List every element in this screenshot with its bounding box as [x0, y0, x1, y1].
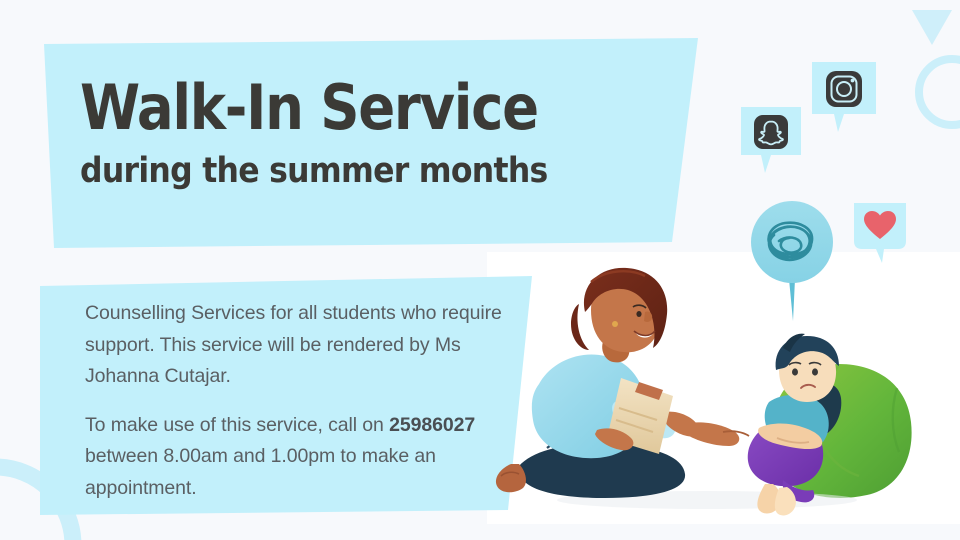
triangle-decoration: [912, 10, 952, 45]
poster-canvas: Walk-In Service during the summer months…: [0, 0, 960, 540]
circle-outline-decoration: [919, 59, 960, 125]
title-text-group: Walk-In Service during the summer months: [80, 76, 680, 190]
instagram-bubble[interactable]: [806, 58, 882, 136]
instagram-icon: [826, 71, 862, 107]
page-subtitle: during the summer months: [80, 153, 620, 190]
body-paragraph-description: Counselling Services for all students wh…: [85, 298, 505, 393]
snapchat-icon: [754, 115, 788, 149]
counsellor-figure: [496, 268, 749, 498]
contact-text-prefix: To make use of this service, call on: [85, 414, 389, 436]
snapchat-bubble[interactable]: [737, 103, 809, 177]
contact-text-suffix: between 8.00am and 1.00pm to make an app…: [85, 445, 436, 499]
phone-number[interactable]: 25986027: [389, 414, 475, 436]
title-banner: Walk-In Service during the summer months: [0, 0, 720, 280]
body-paragraph-contact: To make use of this service, call on 259…: [85, 410, 505, 505]
page-title: Walk-In Service: [80, 76, 608, 139]
body-text-group: Counselling Services for all students wh…: [85, 298, 505, 504]
body-text-panel: Counselling Services for all students wh…: [40, 268, 550, 518]
counselling-illustration: [487, 252, 960, 524]
